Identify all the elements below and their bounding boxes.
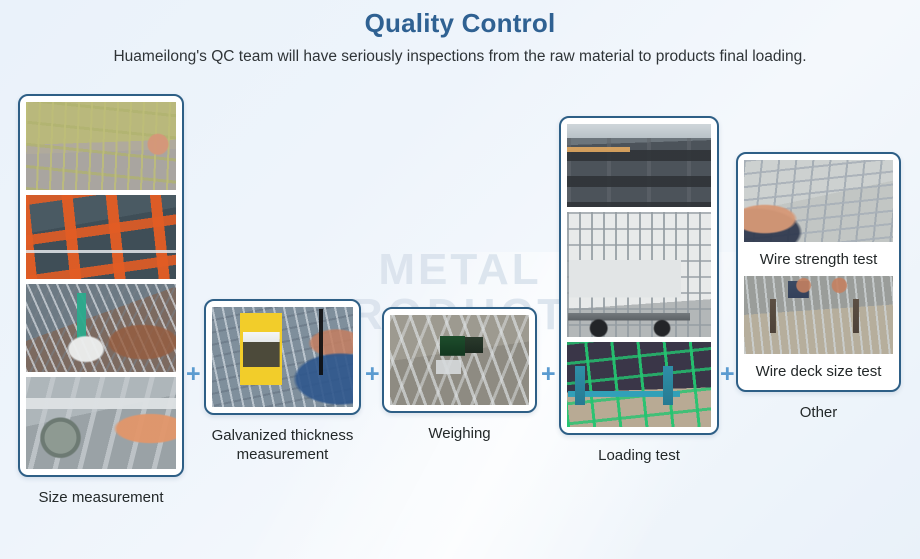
- stage-caption: Other: [800, 403, 838, 422]
- wire-deck-size-test-caption: Wire deck size test: [744, 359, 893, 383]
- stage-caption: Galvanized thickness measurement: [204, 426, 361, 464]
- photo-card: [382, 307, 537, 413]
- stage-loading-test[interactable]: Loading test: [559, 116, 719, 465]
- wire-strength-test-photo: [744, 160, 893, 242]
- coating-thickness-meter-photo: [212, 307, 353, 407]
- stage-galvanized-thickness-measurement[interactable]: Galvanized thickness measurement: [204, 299, 361, 464]
- plus-icon: +: [720, 362, 735, 387]
- photo-card: Wire strength test Wire deck size test: [736, 152, 901, 392]
- stage-caption: Weighing: [428, 424, 490, 443]
- platform-scale-display-photo: [390, 315, 529, 405]
- wire-strength-test-caption: Wire strength test: [744, 247, 893, 271]
- photo-card: [18, 94, 184, 477]
- yellow-wire-cage-photo: [26, 102, 176, 190]
- photo-card: [204, 299, 361, 415]
- qc-process-flow: Size measurement + Galvanized thickness …: [0, 86, 920, 559]
- stage-size-measurement[interactable]: Size measurement: [18, 94, 184, 507]
- galvanized-cage-wheels-photo: [567, 212, 711, 337]
- page-subtitle: Huameilong's QC team will have seriously…: [0, 48, 920, 66]
- stacked-steel-beams-photo: [567, 124, 711, 207]
- stage-other[interactable]: Wire strength test Wire deck size test O…: [736, 152, 901, 422]
- plus-icon: +: [365, 362, 380, 387]
- wire-deck-size-test-photo: [744, 276, 893, 354]
- stage-weighing[interactable]: Weighing: [382, 307, 537, 443]
- orange-frame-photo: [26, 195, 176, 279]
- photo-card: [559, 116, 719, 435]
- page-title: Quality Control: [0, 8, 920, 39]
- plus-icon: +: [541, 362, 556, 387]
- caliper-tube-photo: [26, 377, 176, 469]
- stage-caption: Loading test: [598, 446, 680, 465]
- stage-caption: Size measurement: [38, 488, 163, 507]
- plus-icon: +: [186, 362, 201, 387]
- green-frame-rack-photo: [567, 342, 711, 427]
- caliper-mesh-photo: [26, 284, 176, 372]
- header: Quality Control Huameilong's QC team wil…: [0, 0, 920, 66]
